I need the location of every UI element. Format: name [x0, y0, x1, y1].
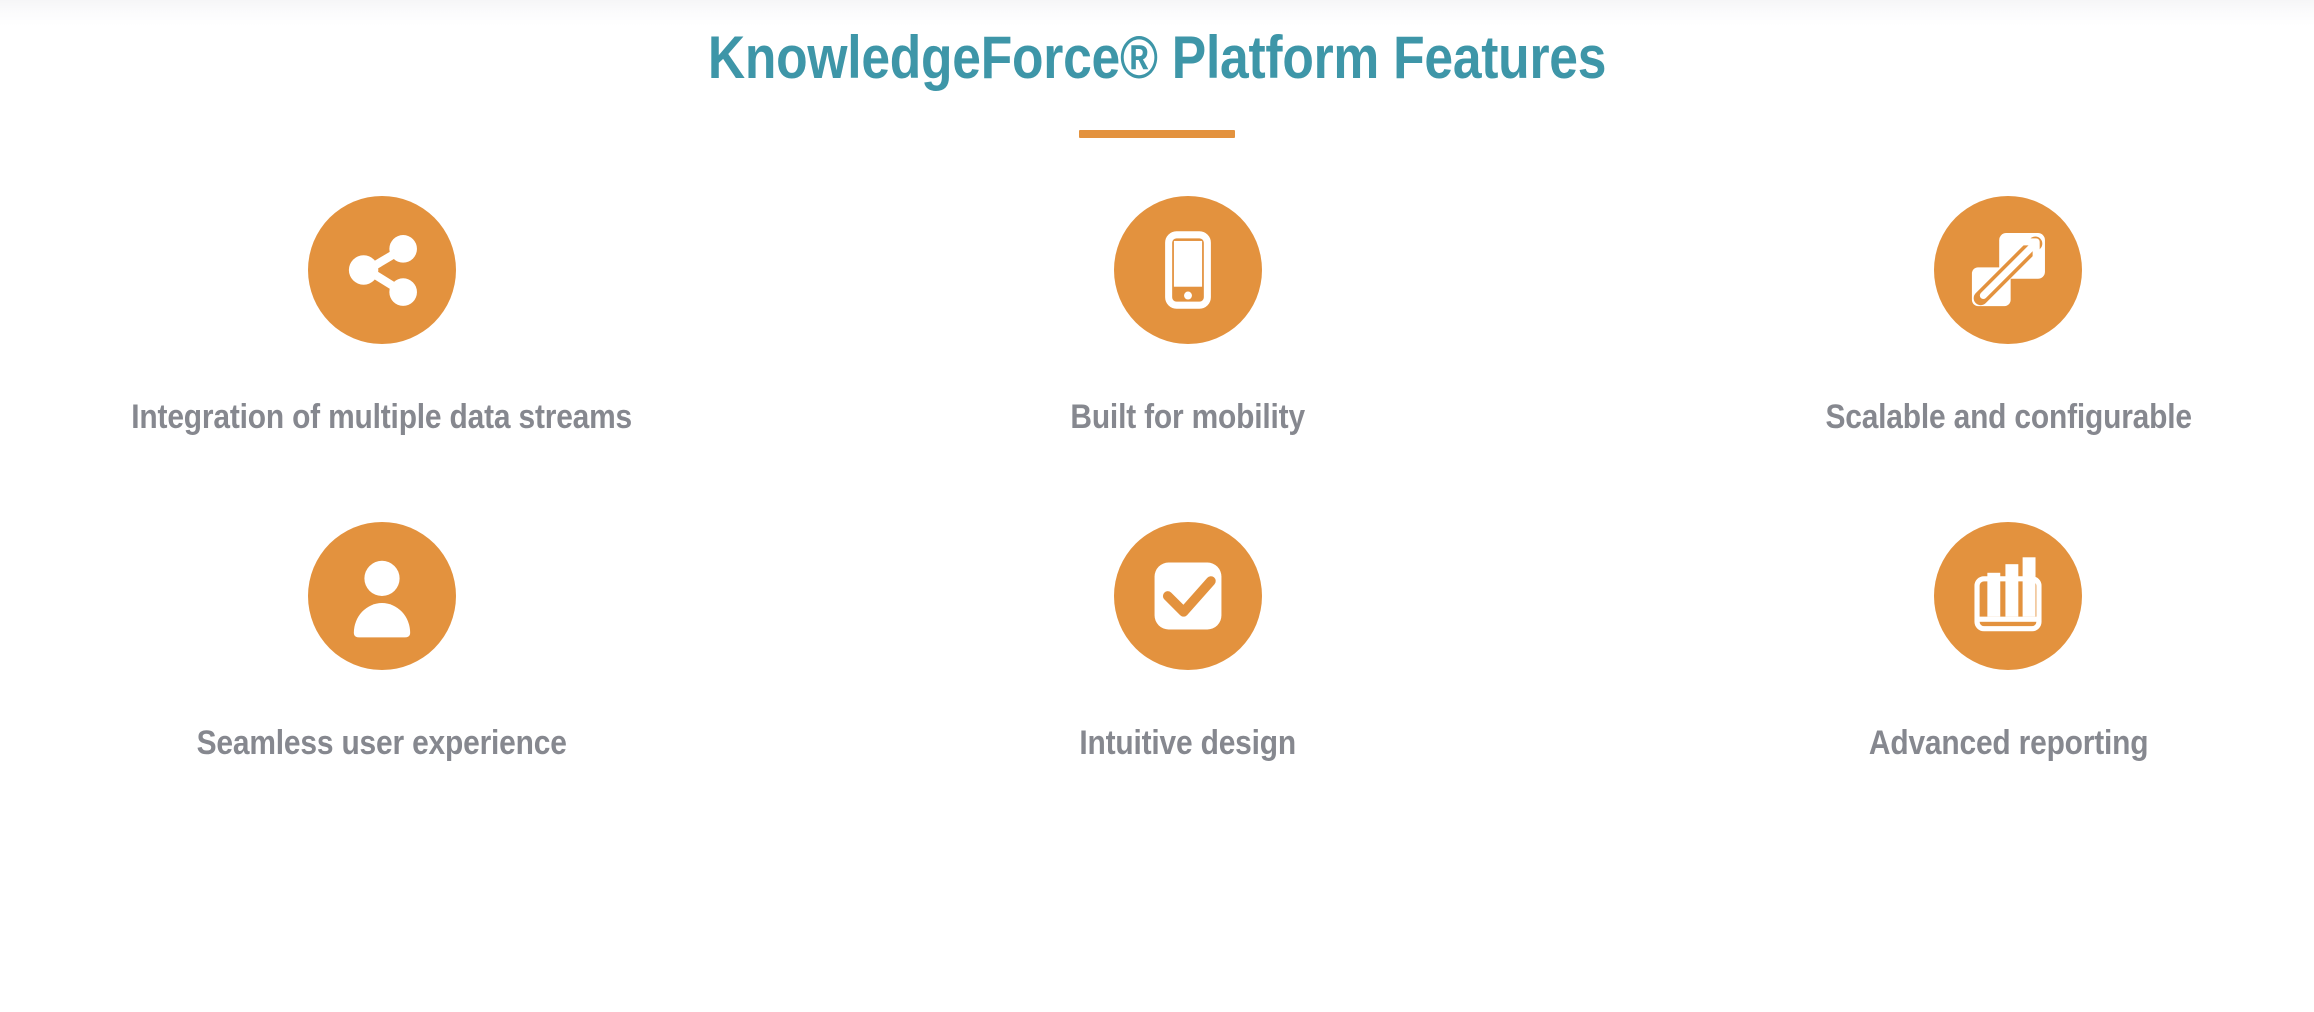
section-header: KnowledgeForce® Platform Features [0, 22, 2314, 138]
feature-label: Scalable and configurable [1669, 396, 2314, 438]
feature-label: Integration of multiple data streams [42, 396, 721, 438]
page-title: KnowledgeForce® Platform Features [162, 22, 2152, 94]
feature-item-user-experience[interactable]: Seamless user experience [0, 522, 767, 764]
feature-item-scalable[interactable]: Scalable and configurable [1623, 196, 2314, 438]
feature-item-intuitive-design[interactable]: Intuitive design [802, 522, 1573, 764]
expand-arrow-squares-icon [1934, 196, 2082, 344]
checkbox-check-icon [1114, 522, 1262, 670]
feature-label: Advanced reporting [1669, 722, 2314, 764]
feature-item-reporting[interactable]: Advanced reporting [1623, 522, 2314, 764]
feature-item-integration[interactable]: Integration of multiple data streams [0, 196, 767, 438]
feature-grid: Integration of multiple data streams Bui… [0, 196, 2314, 764]
user-person-icon [308, 522, 456, 670]
share-nodes-icon [308, 196, 456, 344]
bar-chart-icon [1934, 522, 2082, 670]
feature-label: Seamless user experience [42, 722, 721, 764]
mobile-phone-icon [1114, 196, 1262, 344]
feature-label: Intuitive design [849, 722, 1528, 764]
features-section: KnowledgeForce® Platform Features Integr… [0, 0, 2314, 1012]
title-underline-accent [1079, 130, 1235, 138]
feature-label: Built for mobility [849, 396, 1528, 438]
feature-item-mobility[interactable]: Built for mobility [802, 196, 1573, 438]
